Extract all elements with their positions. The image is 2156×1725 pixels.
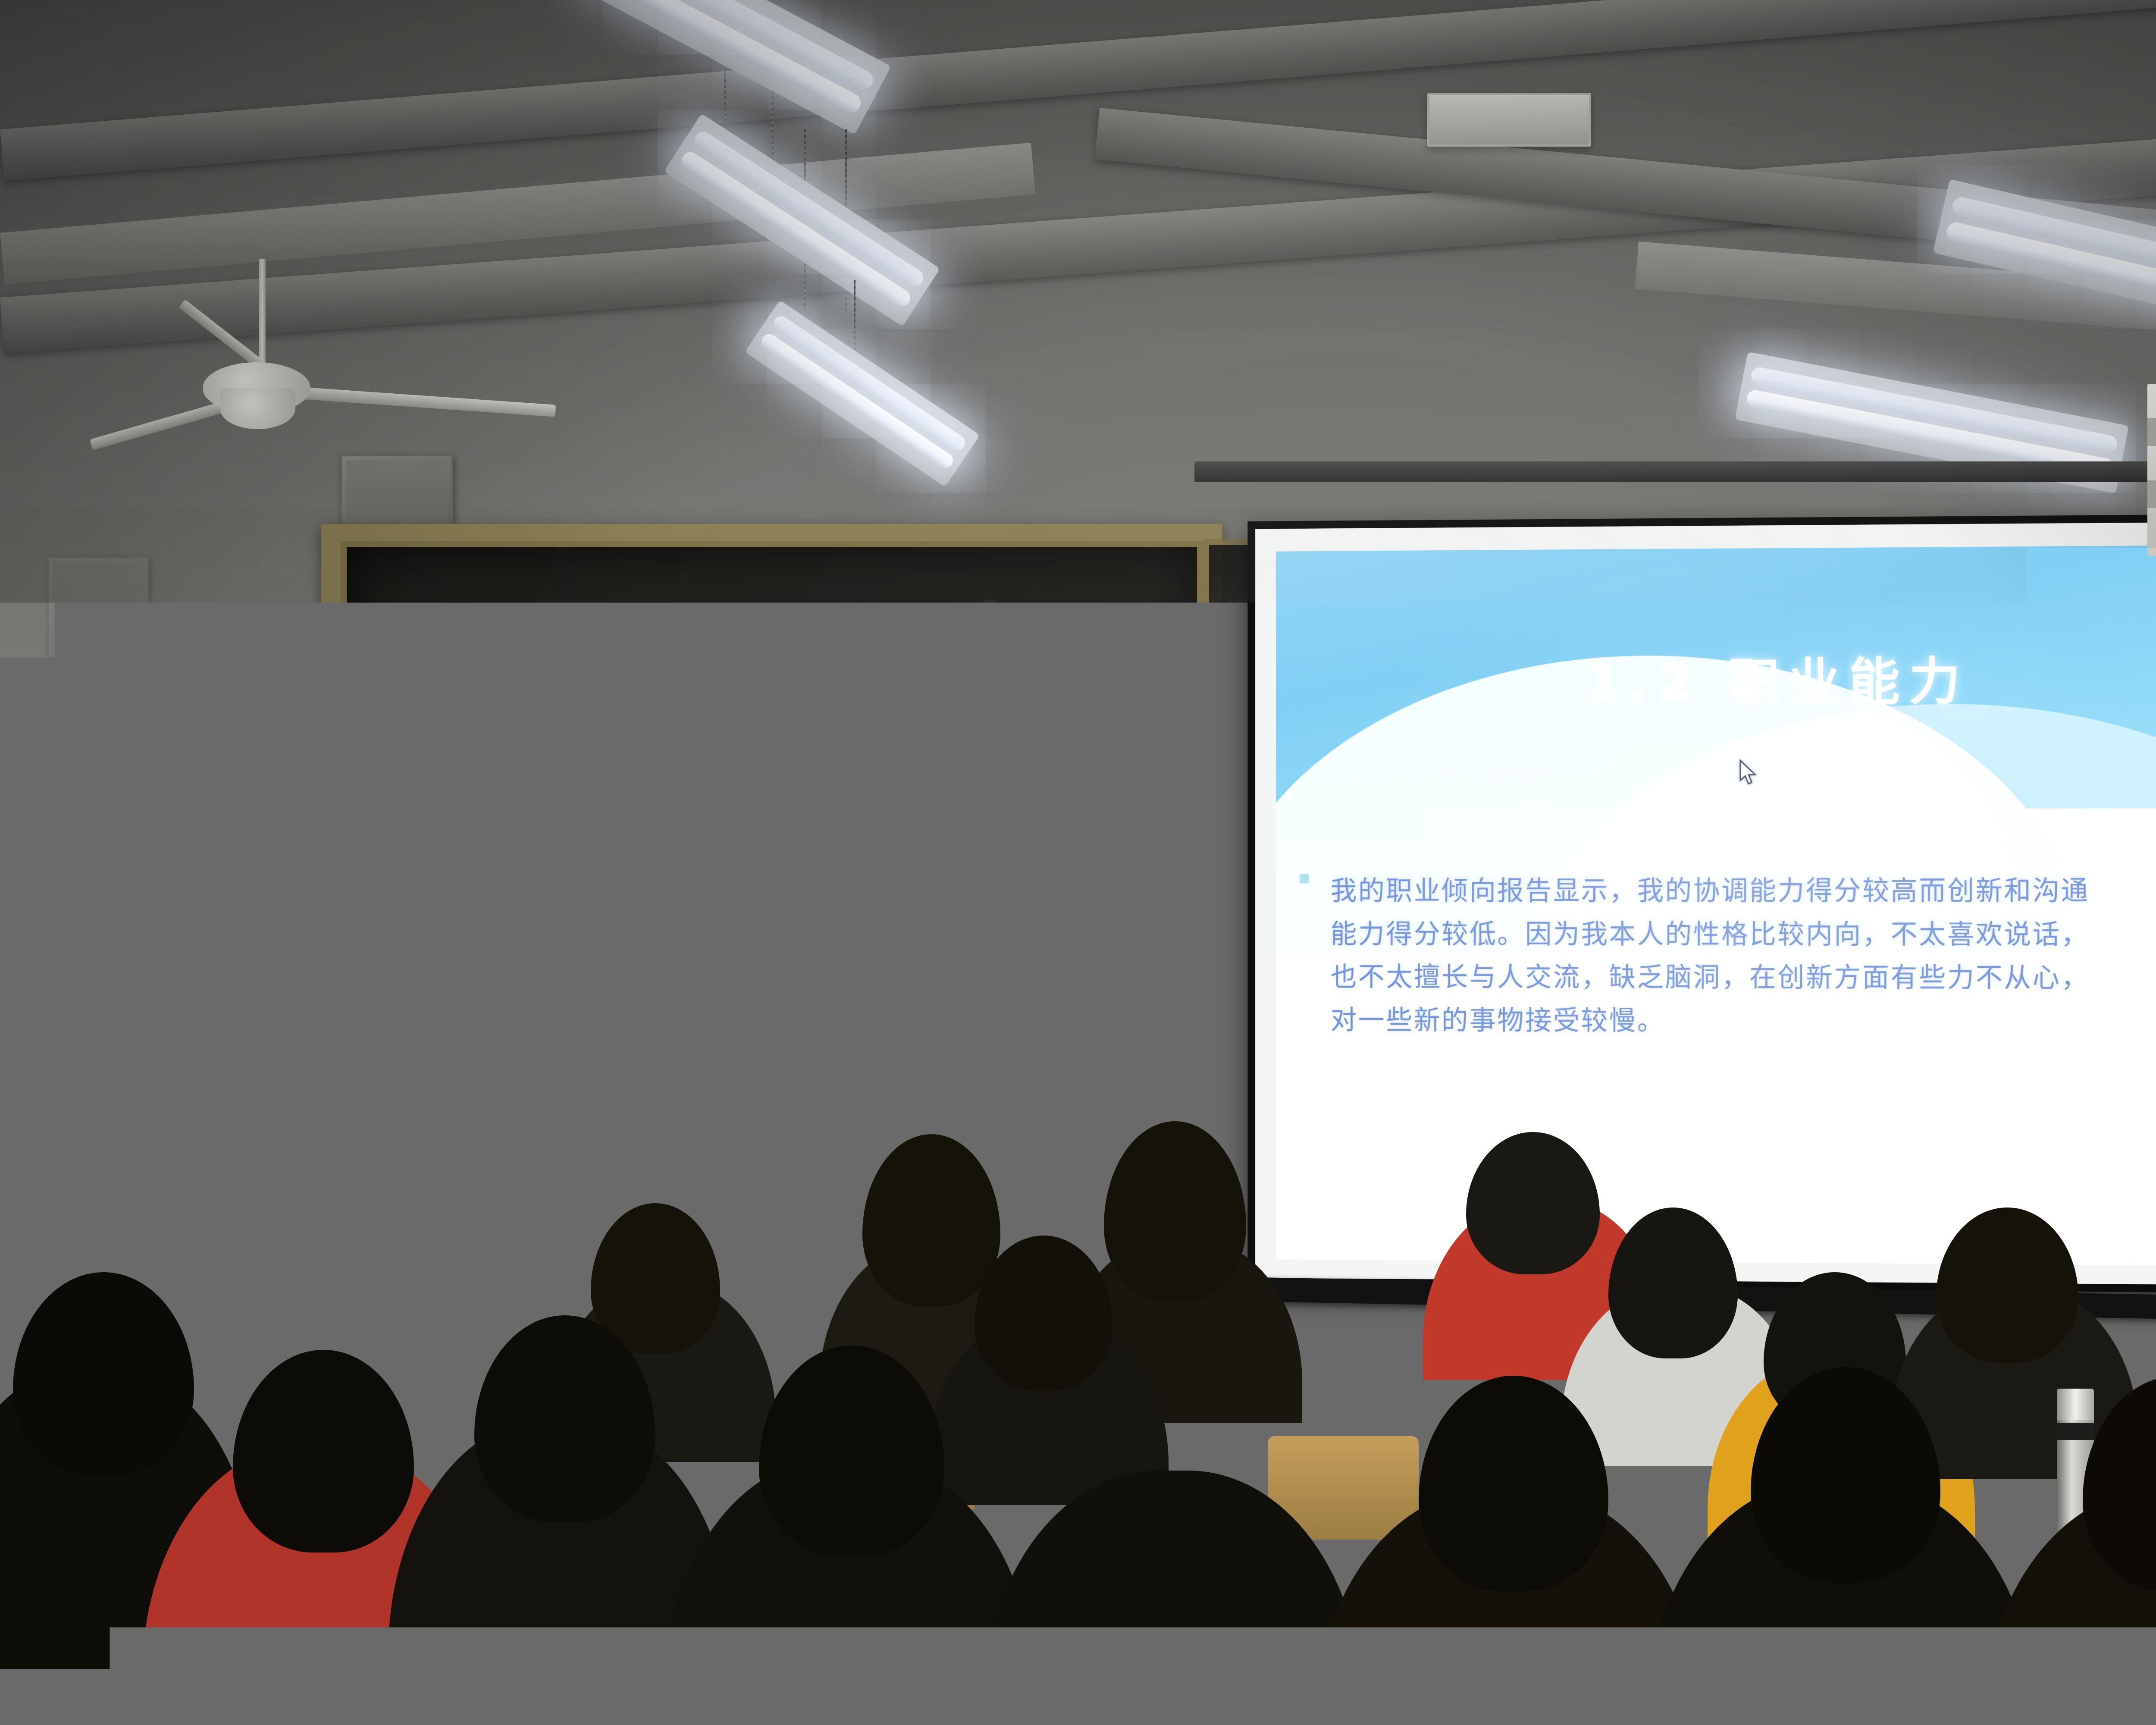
value-item: 和谐 <box>202 924 233 938</box>
poster-flag-graphic <box>93 815 244 872</box>
poster-core-socialist-values: 社会主义 核心价值观 富强 民主 文明 和谐 自由 平等 公正 法治 爱国 敬业… <box>85 807 251 1040</box>
classroom-scene: 数信学院 第十届 职业生涯规划 大赛决赛 1.2 职业能力 <box>0 0 2156 1725</box>
value-item: 民主 <box>136 924 167 938</box>
poster-title-line-2: 核心价值观 <box>122 889 215 910</box>
thermos-band <box>2057 1423 2094 1440</box>
ceiling-vent <box>1427 93 1591 147</box>
thermos-cap <box>2057 1389 2094 1420</box>
audience-seating <box>0 1143 2156 1725</box>
value-item: 自由 <box>103 941 135 956</box>
slide-title: 1.2 职业能力 <box>1276 638 2156 716</box>
audience-head <box>1608 1207 1738 1358</box>
audience-head <box>1466 1132 1600 1274</box>
value-item: 富强 <box>103 924 135 938</box>
value-item: 爱国 <box>103 959 135 974</box>
glasses-left-lens <box>417 1082 452 1105</box>
microphone-head <box>78 1026 91 1039</box>
wall-speaker-far-left <box>47 556 149 720</box>
audience-head-front <box>233 1350 414 1552</box>
presenter-hair-side <box>398 1059 423 1145</box>
presenter-hair-side <box>486 1059 514 1149</box>
poster-title-line-1: 社会主义 <box>131 867 206 888</box>
value-item: 友善 <box>202 959 233 974</box>
audience-head <box>1936 1207 2078 1363</box>
ceiling-fan-motor <box>220 388 295 429</box>
speaker-grille <box>53 562 143 715</box>
ceiling-fan-rod <box>259 259 266 362</box>
value-item: 平等 <box>136 941 167 956</box>
audience-head <box>1104 1121 1246 1302</box>
audience-head <box>862 1134 1000 1307</box>
blackboard-upper-panel: 数信学院 第十届 <box>341 541 1203 899</box>
audience-head-front <box>13 1272 194 1475</box>
poster-values-grid: 富强 民主 文明 和谐 自由 平等 公正 法治 爱国 敬业 诚信 友善 <box>103 924 234 974</box>
screen-roller-case <box>1194 461 2156 482</box>
glasses-bridge <box>451 1090 459 1092</box>
poster-title: 社会主义 核心价值观 <box>93 867 244 910</box>
blackboard-line-1: 数信学院 <box>470 565 1063 756</box>
blackboard-line-2: 第十届 <box>603 757 1034 899</box>
poster-sheet: 社会主义 核心价值观 富强 民主 文明 和谐 自由 平等 公正 法治 爱国 敬业… <box>93 815 244 1033</box>
slide-body-text: 我的职业倾向报告显示，我的协调能力得分较高而创新和沟通能力得分较低。因为我本人的… <box>1331 869 2118 1044</box>
value-item: 诚信 <box>169 959 200 974</box>
value-item: 文明 <box>169 924 200 938</box>
projector-hood <box>2147 384 2156 556</box>
value-item: 公正 <box>169 941 200 956</box>
slide-bullet-marker <box>1300 874 1309 884</box>
hood-stripe <box>2147 418 2156 446</box>
hood-stripe <box>2147 480 2156 508</box>
poster-ribbon-graphic <box>93 991 244 1033</box>
ceiling-projector <box>2147 362 2156 565</box>
glasses-right-lens <box>457 1082 492 1105</box>
value-item: 敬业 <box>136 959 167 974</box>
value-item: 法治 <box>202 941 233 956</box>
